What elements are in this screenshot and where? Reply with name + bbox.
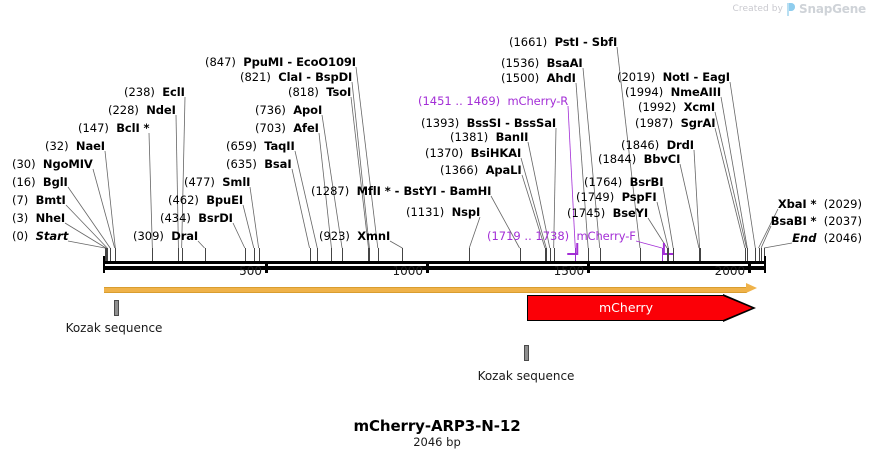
site-position: (1749) (576, 190, 614, 204)
leader-lines (0, 0, 874, 458)
site-enzyme: BbvCI (644, 152, 681, 166)
site-enzyme: PspFI (622, 190, 657, 204)
site-position: (1987) (635, 116, 673, 130)
site-label-end[interactable]: End (2046) (792, 232, 862, 245)
site-label-bsihkai[interactable]: (1370) BsiHKAI (425, 147, 521, 160)
site-enzyme: BglI (43, 175, 68, 189)
kozak-2-label: Kozak sequence (478, 369, 575, 383)
site-position: (2046) (824, 231, 862, 245)
ruler-tick (575, 248, 576, 261)
site-label-clai[interactable]: (821) ClaI - BspDI (240, 71, 352, 84)
site-label-bcli[interactable]: (147) BclI * (78, 122, 149, 135)
site-enzyme: BsrBI (630, 175, 664, 189)
sequence-axis (104, 261, 765, 270)
site-position: (7) (12, 193, 28, 207)
site-position: (703) (255, 121, 286, 135)
site-label-start[interactable]: (0) Start (12, 230, 68, 243)
site-enzyme: TaqII (264, 139, 294, 153)
site-position: (1287) (311, 184, 349, 198)
site-enzyme: ApoI (293, 103, 322, 117)
site-position: (1992) (638, 100, 676, 114)
site-enzyme: BsaAI (547, 56, 583, 70)
site-label-nspi[interactable]: (1131) NspI (406, 206, 480, 219)
site-label-bmti[interactable]: (7) BmtI (12, 194, 66, 207)
site-enzyme: End (792, 231, 816, 245)
ruler-tick (402, 248, 403, 261)
site-label-bsaai[interactable]: (1536) BsaAI (501, 57, 583, 70)
site-enzyme-alt2: BamHI (449, 184, 491, 198)
site-label-bsssi[interactable]: (1393) BssSI - BssSaI (421, 117, 556, 130)
site-label-bsabi[interactable]: BsaBI * (2037) (771, 215, 862, 228)
site-label-apoi[interactable]: (736) ApoI (255, 104, 322, 117)
site-enzyme: XbaI * (778, 197, 817, 211)
site-label-xbai[interactable]: XbaI * (2029) (778, 198, 862, 211)
ruler-tick (747, 248, 748, 261)
site-label-ecli[interactable]: (238) EclI (124, 86, 185, 99)
mcherry-label: mCherry (527, 300, 725, 315)
site-label-bseyi[interactable]: (1745) BseYI (567, 207, 648, 220)
site-position: (2029) (824, 197, 862, 211)
site-enzyme: SgrAI (681, 116, 716, 130)
axis-cap-left (103, 256, 105, 273)
ruler-tick (205, 248, 206, 261)
site-label-afei[interactable]: (703) AfeI (255, 122, 319, 135)
ruler-tick (178, 248, 179, 261)
site-enzyme: NspI (452, 205, 481, 219)
snapgene-logo-icon (786, 3, 796, 16)
site-position: (0) (12, 229, 28, 243)
ruler-tick (107, 248, 108, 261)
ruler-tick (546, 248, 547, 261)
site-enzyme: BmtI (36, 193, 66, 207)
site-enzyme: BseYI (613, 206, 649, 220)
site-position: (16) (12, 175, 36, 189)
axis-tick-2000 (748, 262, 751, 273)
plasmid-map: Created by SnapGene 500100015002000 mChe… (0, 0, 874, 458)
ruler-tick (378, 248, 379, 261)
site-enzyme: SmlI (222, 175, 250, 189)
site-enzyme: BclI * (116, 121, 149, 135)
ruler-tick (115, 248, 116, 261)
site-label-banii[interactable]: (1381) BanII (450, 131, 528, 144)
ruler-tick (369, 248, 370, 261)
site-label-taqii[interactable]: (659) TaqII (226, 140, 295, 153)
site-position: (923) (319, 229, 350, 243)
site-enzyme: XmnI (357, 229, 390, 243)
site-enzyme: DraI (171, 229, 198, 243)
site-label-bgli[interactable]: (16) BglI (12, 176, 68, 189)
site-enzyme-alt: SbfI (592, 35, 617, 49)
site-enzyme: NgoMIV (43, 157, 93, 171)
site-enzyme: AhdI (547, 71, 576, 85)
ruler-tick (254, 248, 255, 261)
site-enzyme: NdeI (146, 103, 176, 117)
ruler-tick (245, 248, 246, 261)
site-enzyme: NaeI (76, 139, 105, 153)
site-position: (434) (160, 211, 191, 225)
site-position: (30) (12, 157, 36, 171)
ruler-tick (520, 248, 521, 261)
mcherry-arrow-head-fill (723, 296, 752, 320)
kozak-2-bar (524, 345, 529, 361)
site-label-xcmi[interactable]: (1992) XcmI (638, 101, 715, 114)
site-label-ndei[interactable]: (228) NdeI (108, 104, 176, 117)
site-enzyme: NheI (36, 211, 66, 225)
site-label-bsrbi[interactable]: (1764) BsrBI (584, 176, 663, 189)
site-enzyme: BsaBI * (771, 214, 817, 228)
site-enzyme-alt: EcoO109I (296, 55, 356, 69)
axis-tick-label-2000: 2000 (715, 264, 749, 278)
site-position: (147) (78, 121, 109, 135)
ruler-tick (310, 248, 311, 261)
watermark-prefix: Created by (733, 4, 784, 14)
site-enzyme-alt: EagI (702, 70, 730, 84)
ruler-tick (259, 248, 260, 261)
site-position: (1381) (450, 130, 488, 144)
site-position: (1745) (567, 206, 605, 220)
site-label-mcherryf[interactable]: (1719 .. 1738) mCherry-F (487, 230, 636, 243)
watermark-brand: SnapGene (799, 2, 866, 16)
site-label-nmeaiii[interactable]: (1994) NmeAIII (625, 86, 721, 99)
site-label-bsrdi[interactable]: (434) BsrDI (160, 212, 233, 225)
ruler-tick (755, 248, 756, 261)
ruler-tick (317, 248, 318, 261)
ruler-tick (152, 248, 153, 261)
kozak-1-bar (114, 300, 119, 316)
mcherry-feature-arrow[interactable]: mCherry (527, 295, 756, 321)
site-position: (821) (240, 70, 271, 84)
axis-tick-label-1000: 1000 (393, 264, 427, 278)
site-label-ahdi[interactable]: (1500) AhdI (501, 72, 576, 85)
snapgene-watermark: Created by SnapGene (733, 2, 866, 16)
site-enzyme: BpuEI (206, 193, 243, 207)
ruler-tick (331, 248, 332, 261)
site-position: (3) (12, 211, 28, 225)
site-enzyme: mCherry-R (507, 94, 568, 108)
kozak-1-label: Kozak sequence (66, 321, 163, 335)
site-position: (1131) (406, 205, 444, 219)
site-position: (1719 .. 1738) (487, 229, 569, 243)
site-position: (847) (205, 55, 236, 69)
site-enzyme: Start (36, 229, 69, 243)
site-enzyme-alt: BssSaI (514, 116, 556, 130)
site-position: (2019) (617, 70, 655, 84)
site-enzyme-alt: BspDI (315, 70, 352, 84)
site-enzyme: ApaLI (486, 163, 522, 177)
site-position: (1500) (501, 71, 539, 85)
site-enzyme: DrdI (667, 138, 694, 152)
site-enzyme: AfeI (293, 121, 319, 135)
site-enzyme-alt: BstYI (403, 184, 436, 198)
site-position: (32) (45, 139, 69, 153)
ruler-tick (469, 248, 470, 261)
site-position: (1370) (425, 146, 463, 160)
site-position: (1844) (598, 152, 636, 166)
ruler-tick (668, 248, 669, 261)
site-label-drdi[interactable]: (1846) DrdI (621, 139, 694, 152)
axis-tick-label-500: 500 (239, 264, 265, 278)
site-position: (1536) (501, 56, 539, 70)
site-enzyme: mCherry-F (576, 229, 635, 243)
ruler-tick (550, 248, 551, 261)
site-position: (228) (108, 103, 139, 117)
site-label-ngomiv[interactable]: (30) NgoMIV (12, 158, 93, 171)
site-label-sgrai[interactable]: (1987) SgrAI (635, 117, 715, 130)
site-position: (1846) (621, 138, 659, 152)
ruler-tick (759, 248, 760, 261)
site-label-bbvci[interactable]: (1844) BbvCI (598, 153, 680, 166)
site-position: (309) (133, 229, 164, 243)
site-label-bpuei[interactable]: (462) BpuEI (168, 194, 243, 207)
site-label-xmni[interactable]: (923) XmnI (319, 230, 390, 243)
orf-body (104, 287, 747, 293)
site-label-bsai[interactable]: (635) BsaI (226, 158, 292, 171)
axis-tick-label-1500: 1500 (554, 264, 588, 278)
site-label-ppumi[interactable]: (847) PpuMI - EcoO109I (205, 56, 356, 69)
site-label-pspfi[interactable]: (1749) PspFI (576, 191, 657, 204)
site-label-psti[interactable]: (1661) PstI - SbfI (509, 36, 617, 49)
site-label-mfli[interactable]: (1287) MflI * - BstYI - BamHI (311, 185, 491, 198)
site-label-mcherryr[interactable]: (1451 .. 1469) mCherry-R (418, 95, 568, 108)
orf-track[interactable] (104, 286, 757, 291)
axis-tick-1000 (426, 262, 429, 273)
ruler-tick (110, 248, 111, 261)
site-enzyme: XcmI (684, 100, 716, 114)
ruler-tick (640, 248, 641, 261)
page-title: mCherry-ARP3-N-12 (0, 417, 874, 435)
site-position: (2037) (824, 214, 862, 228)
site-label-noti[interactable]: (2019) NotI - EagI (617, 71, 730, 84)
site-label-naei[interactable]: (32) NaeI (45, 140, 105, 153)
site-label-smli[interactable]: (477) SmlI (184, 176, 250, 189)
axis-cap-right (764, 256, 766, 273)
page-subtitle: 2046 bp (0, 435, 874, 449)
site-position: (1661) (509, 35, 547, 49)
orf-arrowhead (746, 283, 757, 293)
axis-tick-500 (265, 262, 268, 273)
site-enzyme: MflI * (357, 184, 391, 198)
ruler-tick (700, 248, 701, 261)
site-enzyme: PpuMI (243, 55, 283, 69)
site-enzyme: BanII (496, 130, 529, 144)
site-position: (462) (168, 193, 199, 207)
site-enzyme: BssSI (467, 116, 502, 130)
site-position: (635) (226, 157, 257, 171)
site-position: (736) (255, 103, 286, 117)
site-position: (659) (226, 139, 257, 153)
site-enzyme: EclI (162, 85, 185, 99)
site-position: (1764) (584, 175, 622, 189)
site-enzyme: BsaI (264, 157, 291, 171)
site-position: (477) (184, 175, 215, 189)
ruler-tick (182, 248, 183, 261)
ruler-tick (662, 248, 663, 261)
site-enzyme: BsrDI (198, 211, 233, 225)
site-position: (1393) (421, 116, 459, 130)
ruler-tick (761, 248, 762, 261)
ruler-tick (554, 248, 555, 261)
ruler-tick (342, 248, 343, 261)
site-label-tsoi[interactable]: (818) TsoI (288, 86, 351, 99)
site-enzyme: TsoI (326, 85, 351, 99)
site-label-drai[interactable]: (309) DraI (133, 230, 198, 243)
site-position: (1366) (440, 163, 478, 177)
site-position: (1451 .. 1469) (418, 94, 500, 108)
axis-tick-1500 (587, 262, 590, 273)
site-position: (818) (288, 85, 319, 99)
ruler-tick (673, 248, 674, 261)
site-position: (238) (124, 85, 155, 99)
site-position: (1994) (625, 85, 663, 99)
site-label-nhei[interactable]: (3) NheI (12, 212, 65, 225)
ruler-tick (600, 248, 601, 261)
site-enzyme: PstI (555, 35, 579, 49)
site-enzyme: BsiHKAI (471, 146, 522, 160)
site-enzyme: ClaI (278, 70, 302, 84)
site-label-apali[interactable]: (1366) ApaLI (440, 164, 522, 177)
site-enzyme: NotI (663, 70, 690, 84)
site-enzyme: NmeAIII (671, 85, 721, 99)
ruler-tick (588, 248, 589, 261)
